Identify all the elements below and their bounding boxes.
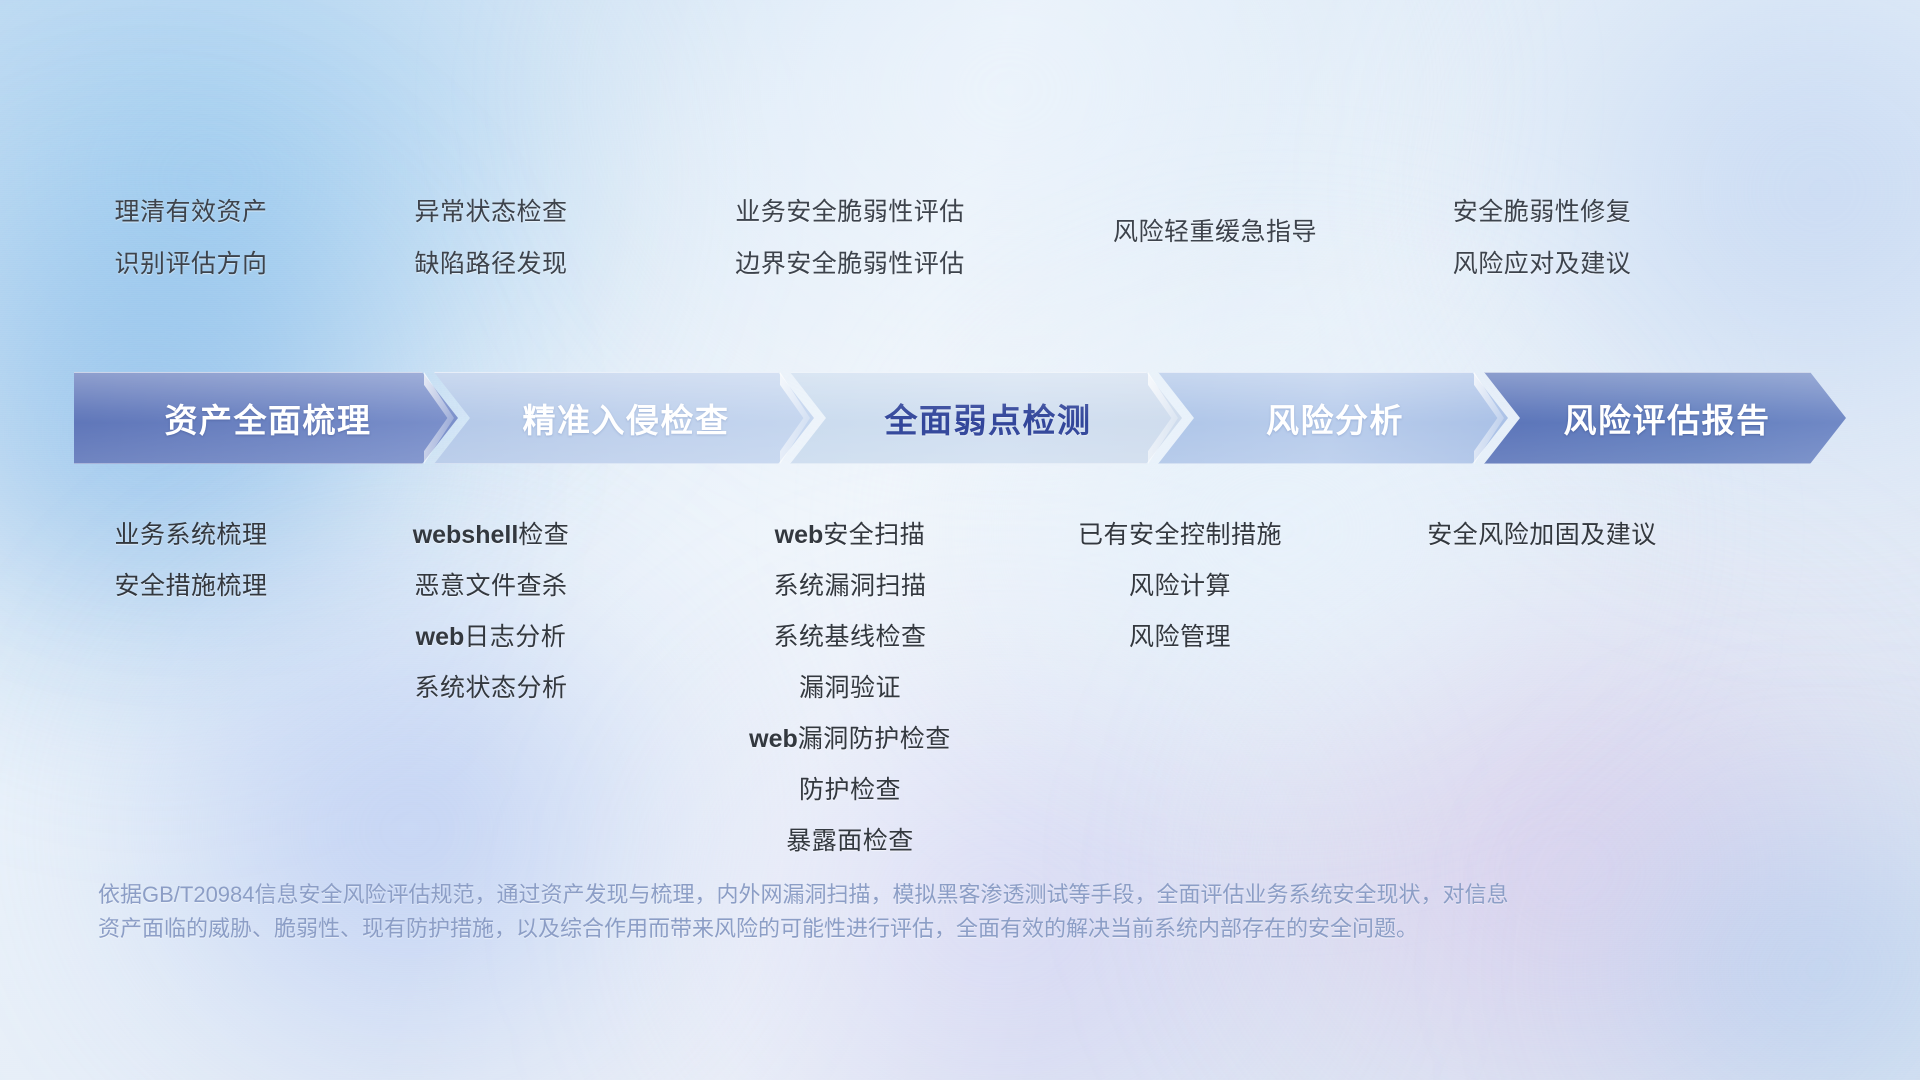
bottom-label: 系统漏洞扫描 bbox=[700, 566, 1000, 602]
bottom-label: web日志分析 bbox=[362, 617, 620, 653]
process-stage-assessment-report[interactable]: 风险评估报告 bbox=[1484, 372, 1846, 464]
bottom-label-text: 业务系统梳理 bbox=[114, 521, 267, 549]
bottom-label-latin: web bbox=[416, 623, 465, 651]
process-stage-label: 风险分析 bbox=[1158, 394, 1508, 442]
bottom-label: 风险管理 bbox=[1040, 617, 1320, 653]
slide-canvas: 理清有效资产 识别评估方向 异常状态检查 缺陷路径发现 业务安全脆弱性评估 边界… bbox=[0, 0, 1920, 1080]
process-stage-label: 风险评估报告 bbox=[1484, 394, 1846, 442]
process-stage-risk-analysis[interactable]: 风险分析 bbox=[1158, 372, 1508, 464]
bottom-label: 风险计算 bbox=[1040, 566, 1320, 602]
bottom-label-text: 安全扫描 bbox=[823, 521, 925, 549]
top-labels-stage-1: 理清有效资产 识别评估方向 bbox=[62, 192, 320, 280]
top-labels-stage-5: 安全脆弱性修复 风险应对及建议 bbox=[1392, 192, 1692, 280]
bottom-labels-stage-2: webshell检查 恶意文件查杀 web日志分析 系统状态分析 bbox=[362, 515, 620, 704]
bottom-label-text: 日志分析 bbox=[464, 623, 566, 651]
bottom-labels-stage-3: web安全扫描 系统漏洞扫描 系统基线检查 漏洞验证 web漏洞防护检查 防护检… bbox=[700, 515, 1000, 857]
bottom-label: 系统基线检查 bbox=[700, 617, 1000, 653]
bottom-labels-stage-4: 已有安全控制措施 风险计算 风险管理 bbox=[1040, 515, 1320, 653]
bottom-label: 已有安全控制措施 bbox=[1040, 515, 1320, 551]
bottom-label-text: 风险计算 bbox=[1129, 572, 1231, 600]
top-label: 异常状态检查 bbox=[362, 192, 620, 228]
bottom-label: 系统状态分析 bbox=[362, 668, 620, 704]
bottom-label-text: 安全措施梳理 bbox=[114, 572, 267, 600]
top-label: 业务安全脆弱性评估 bbox=[680, 192, 1020, 228]
top-label: 边界安全脆弱性评估 bbox=[680, 244, 1020, 280]
bottom-label: 业务系统梳理 bbox=[62, 515, 320, 551]
bottom-label-text: 风险管理 bbox=[1129, 623, 1231, 651]
bottom-label-latin: webshell bbox=[413, 521, 519, 549]
top-labels-stage-4: 风险轻重缓急指导 bbox=[1060, 212, 1370, 248]
bottom-label: 防护检查 bbox=[700, 770, 1000, 806]
top-label: 风险应对及建议 bbox=[1392, 244, 1692, 280]
bottom-label-latin: web bbox=[749, 725, 798, 753]
process-stage-intrusion-inspection[interactable]: 精准入侵检查 bbox=[434, 372, 814, 464]
bottom-label: web漏洞防护检查 bbox=[700, 719, 1000, 755]
bottom-label: 漏洞验证 bbox=[700, 668, 1000, 704]
footer-line-1: 依据GB/T20984信息安全风险评估规范，通过资产发现与梳理，内外网漏洞扫描，… bbox=[98, 878, 1618, 912]
bottom-label-text: 系统状态分析 bbox=[414, 674, 567, 702]
diagram-content: 理清有效资产 识别评估方向 异常状态检查 缺陷路径发现 业务安全脆弱性评估 边界… bbox=[0, 0, 1920, 1080]
top-labels-stage-2: 异常状态检查 缺陷路径发现 bbox=[362, 192, 620, 280]
bottom-label: 安全措施梳理 bbox=[62, 566, 320, 602]
top-label: 安全脆弱性修复 bbox=[1392, 192, 1692, 228]
bottom-label-text: 安全风险加固及建议 bbox=[1427, 521, 1657, 549]
bottom-label-text: 漏洞防护检查 bbox=[798, 725, 951, 753]
bottom-label: web安全扫描 bbox=[700, 515, 1000, 551]
bottom-labels-stage-5: 安全风险加固及建议 bbox=[1392, 515, 1692, 551]
process-stage-label: 资产全面梳理 bbox=[74, 394, 458, 442]
bottom-label-text: 系统漏洞扫描 bbox=[773, 572, 926, 600]
bottom-label-text: 暴露面检查 bbox=[786, 827, 914, 855]
bottom-label: webshell检查 bbox=[362, 515, 620, 551]
bottom-label-text: 系统基线检查 bbox=[773, 623, 926, 651]
bottom-label: 暴露面检查 bbox=[700, 821, 1000, 857]
footer-description: 依据GB/T20984信息安全风险评估规范，通过资产发现与梳理，内外网漏洞扫描，… bbox=[98, 878, 1618, 946]
top-label: 理清有效资产 bbox=[62, 192, 320, 228]
process-stage-asset-inventory[interactable]: 资产全面梳理 bbox=[74, 372, 458, 464]
process-stage-label: 精准入侵检查 bbox=[434, 394, 814, 442]
bottom-label: 恶意文件查杀 bbox=[362, 566, 620, 602]
bottom-label-text: 漏洞验证 bbox=[799, 674, 901, 702]
footer-line-2: 资产面临的威胁、脆弱性、现有防护措施，以及综合作用而带来风险的可能性进行评估，全… bbox=[98, 912, 1618, 946]
top-labels-stage-3: 业务安全脆弱性评估 边界安全脆弱性评估 bbox=[680, 192, 1020, 280]
process-stage-label: 全面弱点检测 bbox=[790, 394, 1182, 442]
bottom-label-text: 恶意文件查杀 bbox=[414, 572, 567, 600]
bottom-label-latin: web bbox=[775, 521, 824, 549]
bottom-label-text: 检查 bbox=[518, 521, 569, 549]
top-label: 缺陷路径发现 bbox=[362, 244, 620, 280]
top-label: 识别评估方向 bbox=[62, 244, 320, 280]
bottom-labels-stage-1: 业务系统梳理 安全措施梳理 bbox=[62, 515, 320, 602]
process-chevron-band: 资产全面梳理 精准入侵检查 全面弱点检测 风险分析 bbox=[74, 372, 1846, 464]
bottom-label-text: 已有安全控制措施 bbox=[1078, 521, 1282, 549]
process-stage-weakness-detection[interactable]: 全面弱点检测 bbox=[790, 372, 1182, 464]
top-label: 风险轻重缓急指导 bbox=[1060, 212, 1370, 248]
bottom-label-text: 防护检查 bbox=[799, 776, 901, 804]
bottom-label: 安全风险加固及建议 bbox=[1392, 515, 1692, 551]
